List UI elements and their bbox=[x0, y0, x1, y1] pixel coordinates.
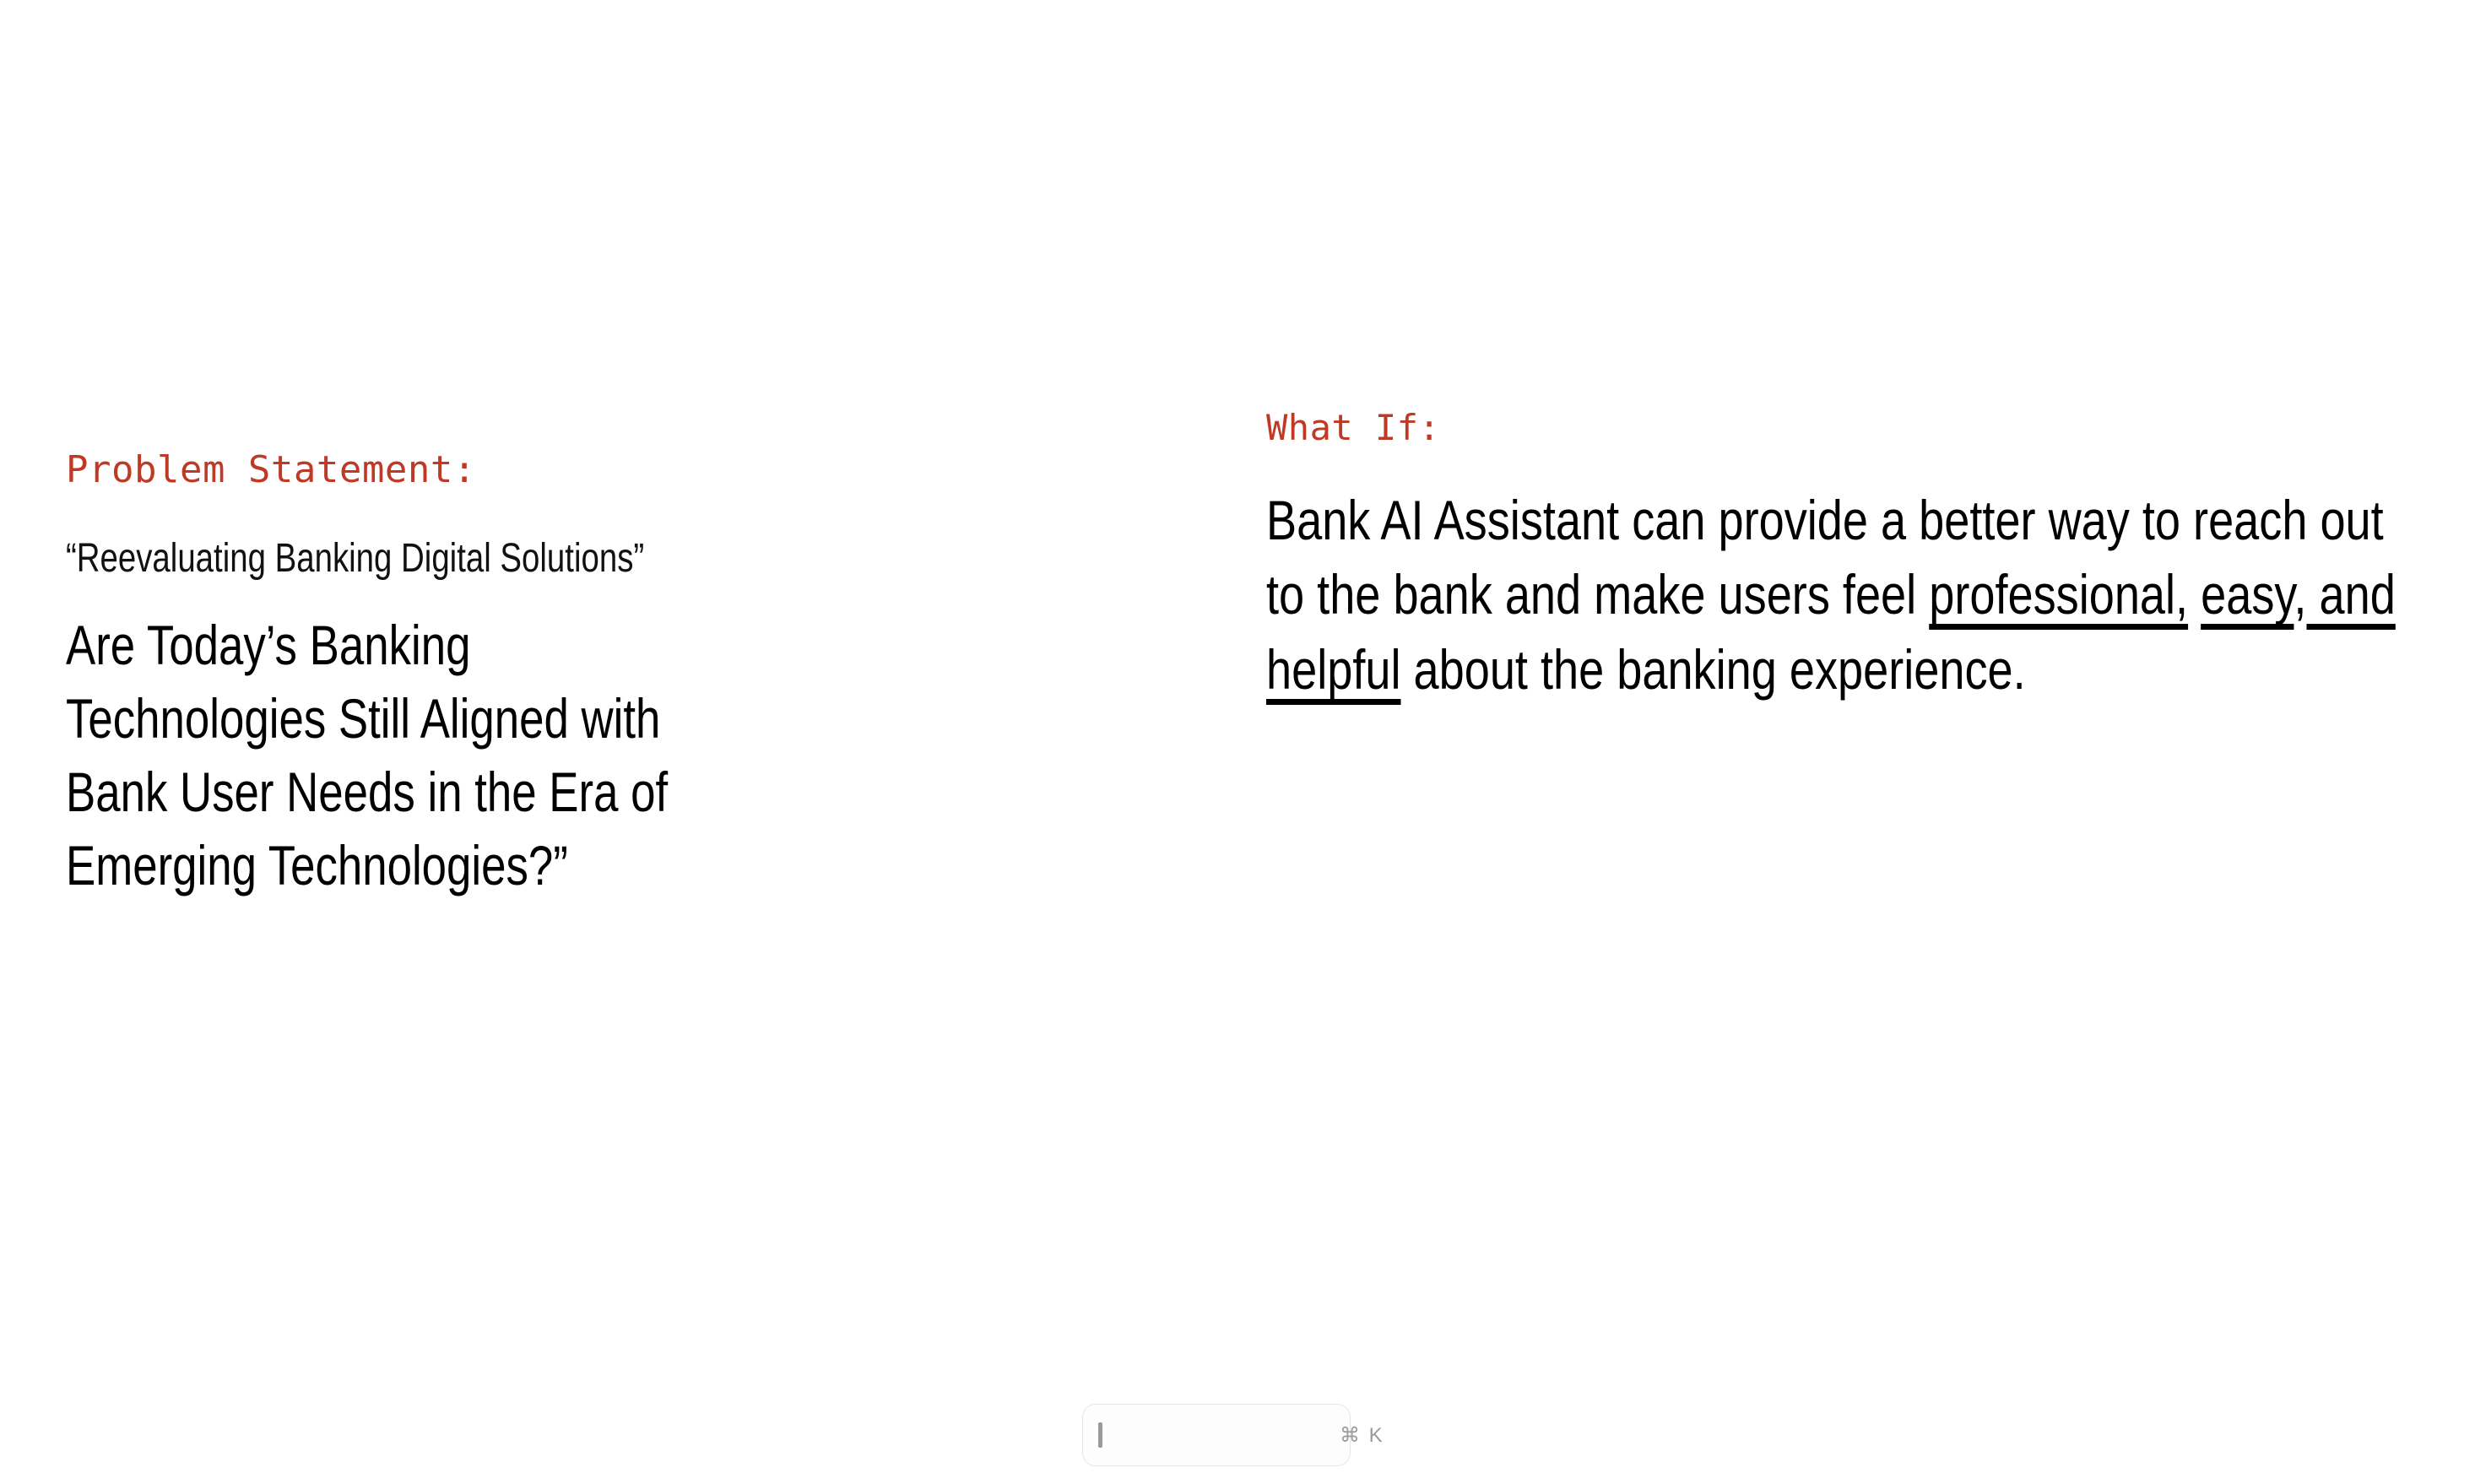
emphasis-underlined-text: easy bbox=[2201, 563, 2294, 626]
emphasis-underlined-text: professional, bbox=[1929, 563, 2188, 626]
problem-statement-subquote: “Reevaluating Banking Digital Solutions” bbox=[66, 534, 964, 583]
emphasis-underlined-text: and bbox=[2306, 563, 2395, 626]
command-shortcut-hint: ⌘ K bbox=[1340, 1423, 1384, 1448]
spacer bbox=[66, 490, 1189, 534]
body-text bbox=[2188, 563, 2201, 626]
slide-canvas: Problem Statement: “Reevaluating Banking… bbox=[0, 0, 2475, 1484]
what-if-column: What If: Bank AI Assistant can provide a… bbox=[1266, 408, 2397, 707]
headline-line: Are Today’s Banking bbox=[66, 609, 1187, 682]
what-if-eyebrow: What If: bbox=[1266, 408, 2397, 447]
problem-statement-headline: Are Today’s Banking Technologies Still A… bbox=[66, 609, 1187, 902]
command-palette-bar[interactable]: ⌘ K bbox=[1082, 1404, 1351, 1466]
headline-line: Emerging Technologies?” bbox=[66, 829, 1187, 902]
what-if-body: Bank AI Assistant can provide a better w… bbox=[1266, 483, 2415, 707]
body-text: , bbox=[2294, 563, 2306, 626]
headline-line: Technologies Still Aligned with bbox=[66, 682, 1187, 756]
headline-line: Bank User Needs in the Era of bbox=[66, 756, 1187, 829]
emphasis-underlined-text: helpful bbox=[1266, 638, 1400, 701]
spacer bbox=[66, 583, 1189, 609]
spacer bbox=[1266, 447, 2397, 483]
command-search-input[interactable] bbox=[1102, 1405, 1340, 1465]
problem-statement-column: Problem Statement: “Reevaluating Banking… bbox=[66, 449, 1189, 902]
problem-statement-eyebrow: Problem Statement: bbox=[66, 449, 1189, 490]
body-text: about the banking experience. bbox=[1400, 638, 2025, 701]
